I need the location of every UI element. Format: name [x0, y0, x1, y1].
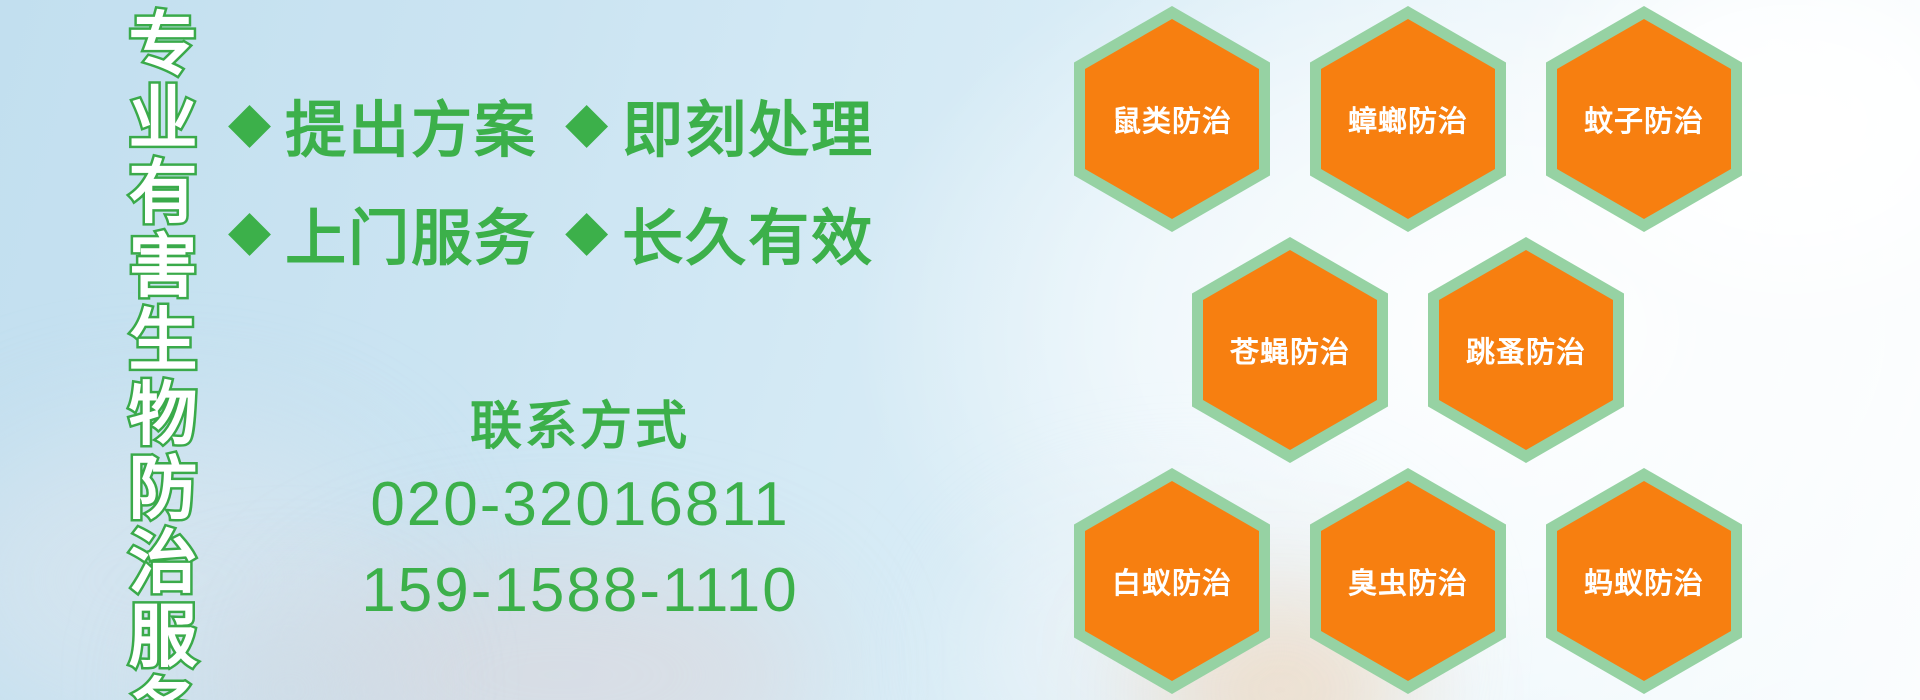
- feature-row: ◆ 提出方案 ◆ 即刻处理: [228, 70, 878, 178]
- vertical-slogan-char: 物: [129, 378, 198, 452]
- contact-title: 联系方式: [270, 392, 890, 462]
- service-hex-fly[interactable]: 苍蝇防治: [1192, 237, 1388, 463]
- feature-item-onsite-service: ◆ 上门服务: [228, 188, 537, 277]
- pest-control-banner: 专 业 有 害 生 物 防 治 服 务 ◆ 提出方案 ◆ 即刻处理 ◆ 上门服务: [0, 0, 1920, 700]
- feature-item-immediate-handling: ◆ 即刻处理: [565, 80, 874, 169]
- service-label: 鼠类防治: [1112, 98, 1232, 140]
- diamond-bullet-icon: ◆: [565, 202, 608, 258]
- vertical-slogan-char: 服: [129, 600, 198, 674]
- feature-item-long-lasting: ◆ 长久有效: [565, 188, 874, 277]
- feature-item-propose-plan: ◆ 提出方案: [228, 80, 537, 169]
- service-hex-inner: 蚂蚁防治: [1557, 481, 1731, 681]
- feature-label: 长久有效: [622, 188, 874, 277]
- service-hex-flea[interactable]: 跳蚤防治: [1428, 237, 1624, 463]
- service-label: 蚊子防治: [1584, 98, 1704, 140]
- feature-label: 提出方案: [285, 80, 537, 169]
- diamond-bullet-icon: ◆: [228, 202, 271, 258]
- service-label: 臭虫防治: [1348, 560, 1468, 602]
- service-hex-ant[interactable]: 蚂蚁防治: [1546, 468, 1742, 694]
- service-hex-inner: 鼠类防治: [1085, 19, 1259, 219]
- diamond-bullet-icon: ◆: [565, 94, 608, 150]
- feature-list: ◆ 提出方案 ◆ 即刻处理 ◆ 上门服务 ◆ 长久有效: [228, 70, 878, 286]
- feature-row: ◆ 上门服务 ◆ 长久有效: [228, 178, 878, 286]
- service-hex-inner: 跳蚤防治: [1439, 250, 1613, 450]
- service-hex-inner: 蟑螂防治: [1321, 19, 1495, 219]
- service-hex-inner: 白蚁防治: [1085, 481, 1259, 681]
- service-hex-mosquito[interactable]: 蚊子防治: [1546, 6, 1742, 232]
- feature-label: 即刻处理: [622, 80, 874, 169]
- contact-block: 联系方式 020-32016811 159-1588-1110: [270, 392, 890, 634]
- vertical-slogan-char: 业: [129, 82, 198, 156]
- vertical-slogan-char: 害: [129, 230, 198, 304]
- service-hex-termite[interactable]: 白蚁防治: [1074, 468, 1270, 694]
- contact-phone-mobile[interactable]: 159-1588-1110: [270, 548, 890, 634]
- service-hex-cockroach[interactable]: 蟑螂防治: [1310, 6, 1506, 232]
- vertical-slogan-char: 务: [129, 674, 198, 700]
- service-label: 跳蚤防治: [1466, 329, 1586, 371]
- vertical-slogan-char: 防: [129, 452, 198, 526]
- vertical-slogan: 专 业 有 害 生 物 防 治 服 务: [104, 8, 222, 688]
- service-hex-inner: 臭虫防治: [1321, 481, 1495, 681]
- service-hex-bedbug[interactable]: 臭虫防治: [1310, 468, 1506, 694]
- vertical-slogan-char: 有: [129, 156, 198, 230]
- service-honeycomb: 鼠类防治 蟑螂防治 蚊子防治 苍蝇防治 跳蚤防治 白蚁防: [1060, 0, 1920, 700]
- vertical-slogan-char: 专: [129, 8, 198, 82]
- service-label: 苍蝇防治: [1230, 329, 1350, 371]
- contact-phone-landline[interactable]: 020-32016811: [270, 462, 890, 548]
- service-label: 蟑螂防治: [1348, 98, 1468, 140]
- vertical-slogan-char: 生: [129, 304, 198, 378]
- feature-label: 上门服务: [285, 188, 537, 277]
- service-label: 蚂蚁防治: [1584, 560, 1704, 602]
- service-hex-inner: 苍蝇防治: [1203, 250, 1377, 450]
- vertical-slogan-char: 治: [129, 526, 198, 600]
- service-label: 白蚁防治: [1112, 560, 1232, 602]
- service-hex-rodent[interactable]: 鼠类防治: [1074, 6, 1270, 232]
- diamond-bullet-icon: ◆: [228, 94, 271, 150]
- service-hex-inner: 蚊子防治: [1557, 19, 1731, 219]
